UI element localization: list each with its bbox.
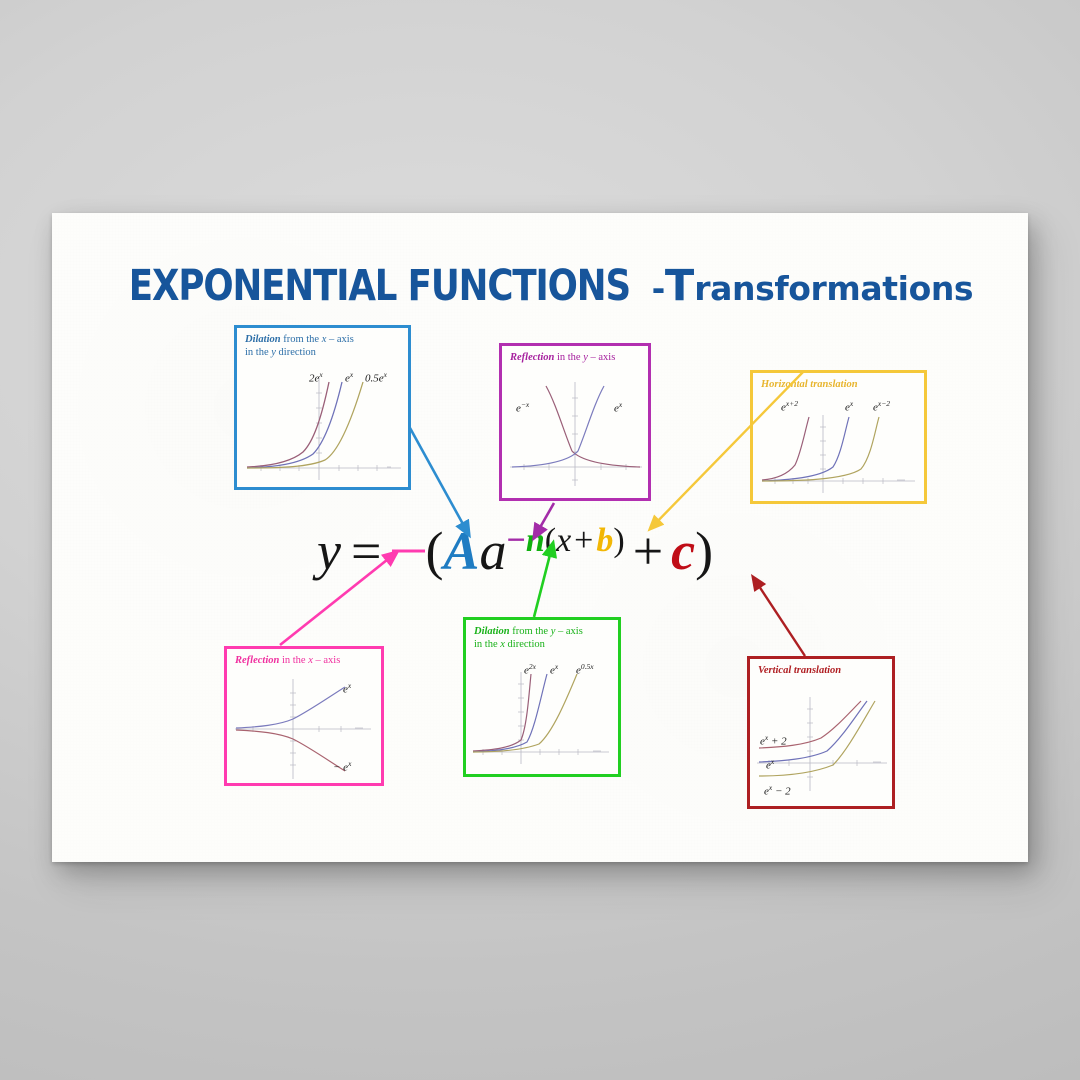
caption-line2-post: direction (276, 347, 316, 358)
curve-label-e-x: ex (550, 662, 558, 677)
caption-emphasis: Reflection (235, 655, 279, 666)
panel-reflection-in-x-axis[interactable]: Reflection in the x – axis ex − ex (224, 646, 384, 786)
page-title-bigT: T (665, 261, 694, 311)
caption-mid: – axis (313, 655, 340, 666)
formula-exponent-group: −n(x+b) (506, 522, 624, 559)
formula-const-c: c (671, 521, 695, 581)
caption-mid: – axis (588, 352, 615, 363)
curve-label-e-x-plus-2: ex + 2 (760, 733, 787, 748)
caption-emphasis: Dilation (474, 626, 510, 637)
poster-sheet: EXPONENTIAL FUNCTIONS-Transformations Di… (52, 213, 1028, 862)
graph-dilation-x (241, 368, 407, 486)
page-title-dash: - (652, 269, 665, 308)
curve-label-05ex: 0.5ex (365, 370, 387, 385)
graph-horizontal-translation (757, 409, 923, 501)
formula-exp-n: n (526, 522, 545, 559)
formula-exp-open: ( (545, 522, 556, 559)
curve-label-e-2x: e2x (524, 662, 536, 677)
formula-plus: + (633, 521, 663, 581)
formula-base-a: a (479, 521, 506, 581)
curve-label-e-x: ex (845, 399, 853, 414)
panel-caption-reflection-y: Reflection in the y – axis (510, 351, 644, 364)
formula-exp-x: x (556, 522, 571, 559)
formula-open-paren: ( (425, 521, 443, 581)
panel-caption-horizontal-translation: Horizontal translation (761, 378, 920, 391)
curve-label-e-neg-x: e−x (516, 400, 529, 415)
formula-close-paren: ) (695, 521, 713, 581)
caption-line2-post: direction (505, 639, 545, 650)
panel-dilation-from-y-axis[interactable]: Dilation from the y – axis in the x dire… (463, 617, 621, 777)
caption-mid: – axis (326, 334, 353, 345)
panel-horizontal-translation[interactable]: Horizontal translation ex+2 ex ex−2 (750, 370, 927, 504)
caption-mid: – axis (555, 626, 582, 637)
panel-caption-dilation-x: Dilation from the x – axis in the y dire… (245, 333, 404, 359)
panel-caption-reflection-x: Reflection in the x – axis (235, 654, 377, 667)
graph-dilation-y (469, 664, 619, 772)
curve-label-e-xplus2: ex+2 (781, 399, 798, 414)
caption-line2-pre: in the (474, 639, 500, 650)
arrow-dilation-x-to-A (410, 428, 469, 535)
arrow-vertical-to-c (753, 577, 805, 656)
formula-equals: = (351, 521, 381, 581)
caption-line2-pre: in the (245, 347, 271, 358)
curve-label-e-05x: e0.5x (576, 662, 594, 677)
panel-caption-vertical-translation: Vertical translation (758, 664, 888, 677)
graph-reflection-x (231, 673, 381, 783)
caption-emphasis: Vertical translation (758, 665, 841, 676)
caption-emphasis: Dilation (245, 334, 281, 345)
curve-label-e-x-minus-2: ex − 2 (764, 783, 791, 798)
formula-exp-close: ) (613, 522, 624, 559)
curve-label-2ex: 2ex (309, 370, 323, 385)
curve-label-e-xminus2: ex−2 (873, 399, 890, 414)
page-title-rest: ransformations (694, 269, 973, 308)
panel-reflection-in-y-axis[interactable]: Reflection in the y – axis e−x ex (499, 343, 651, 501)
page-title: EXPONENTIAL FUNCTIONS-Transformations (52, 261, 1028, 311)
curve-label-e-x: ex (766, 757, 774, 772)
curve-label-neg-e-x: − ex (333, 759, 351, 774)
graph-reflection-y (506, 374, 648, 496)
caption-emphasis: Horizontal translation (761, 379, 858, 390)
central-formula: y=(Aa−n(x+b)+c) (317, 520, 713, 582)
formula-exp-minus: − (506, 522, 525, 559)
formula-coefficient-A: A (443, 521, 479, 581)
caption-emphasis: Reflection (510, 352, 554, 363)
formula-exp-plus: + (574, 522, 593, 559)
caption-rest: from the (510, 626, 551, 637)
curve-label-e-x: ex (343, 681, 351, 696)
caption-rest: from the (281, 334, 322, 345)
panel-vertical-translation[interactable]: Vertical translation ex + 2 ex ex − 2 (747, 656, 895, 809)
caption-rest: in the (279, 655, 308, 666)
curve-label-ex: ex (345, 370, 353, 385)
curve-label-e-x: ex (614, 400, 622, 415)
page-title-caps: EXPONENTIAL FUNCTIONS (129, 261, 630, 311)
panel-dilation-from-x-axis[interactable]: Dilation from the x – axis in the y dire… (234, 325, 411, 490)
formula-exp-b: b (596, 522, 613, 559)
panel-caption-dilation-y: Dilation from the y – axis in the x dire… (474, 625, 614, 651)
caption-rest: in the (554, 352, 583, 363)
formula-y: y (317, 521, 341, 581)
